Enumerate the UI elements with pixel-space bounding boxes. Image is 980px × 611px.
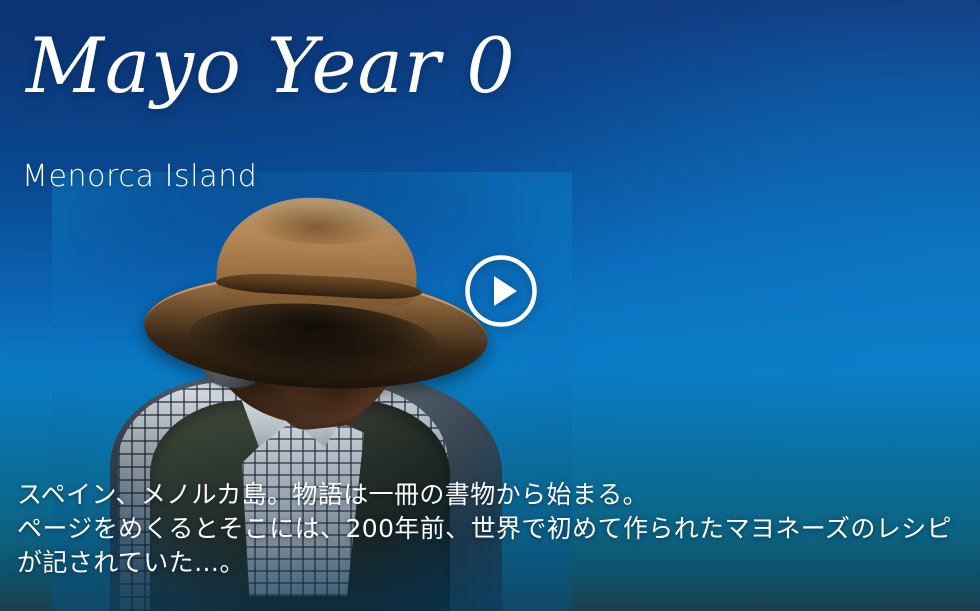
play-icon xyxy=(464,254,538,328)
caption-line: が記されていた…。 xyxy=(17,546,967,580)
caption-line: ページをめくるとそこには、200年前、世界で初めて作られたマヨネーズのレシピ xyxy=(17,512,967,546)
hero-caption: スペイン、メノルカ島。物語は一冊の書物から始まる。 ページをめくるとそこには、2… xyxy=(17,478,967,580)
hero-title: Mayo Year 0 xyxy=(26,28,516,104)
video-hero-banner: Mayo Year 0 Menorca Island スペイン、メノルカ島。物語… xyxy=(0,0,980,611)
caption-line: スペイン、メノルカ島。物語は一冊の書物から始まる。 xyxy=(17,478,967,512)
hero-subtitle: Menorca Island xyxy=(22,162,257,192)
play-button[interactable] xyxy=(464,254,538,328)
